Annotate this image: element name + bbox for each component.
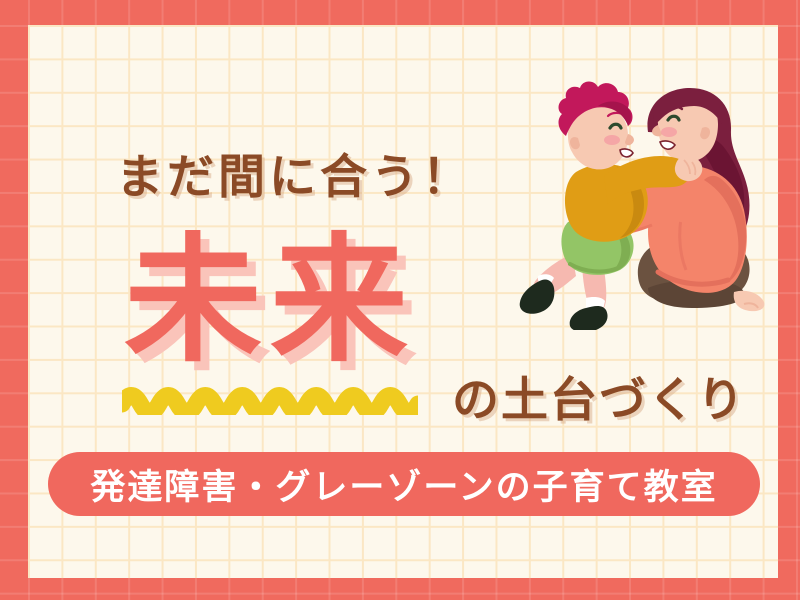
- bottom-banner-pill: 発達障害・グレーゾーンの子育て教室: [48, 452, 760, 516]
- headline-emphasis-word: 未来: [124, 232, 416, 370]
- poster-canvas: まだ間に合う！ 未来 の土台づくり: [0, 0, 800, 600]
- banner-text: 発達障害・グレーゾーンの子育て教室: [90, 459, 717, 510]
- headline-line-2: の土台づくり: [452, 361, 746, 430]
- cream-grid-panel: まだ間に合う！ 未来 の土台づくり: [28, 25, 778, 578]
- wavy-underline-decoration: [122, 385, 418, 415]
- headline-line-1: まだ間に合う！: [116, 138, 473, 207]
- mother-hugging-child-illustration: [498, 80, 778, 330]
